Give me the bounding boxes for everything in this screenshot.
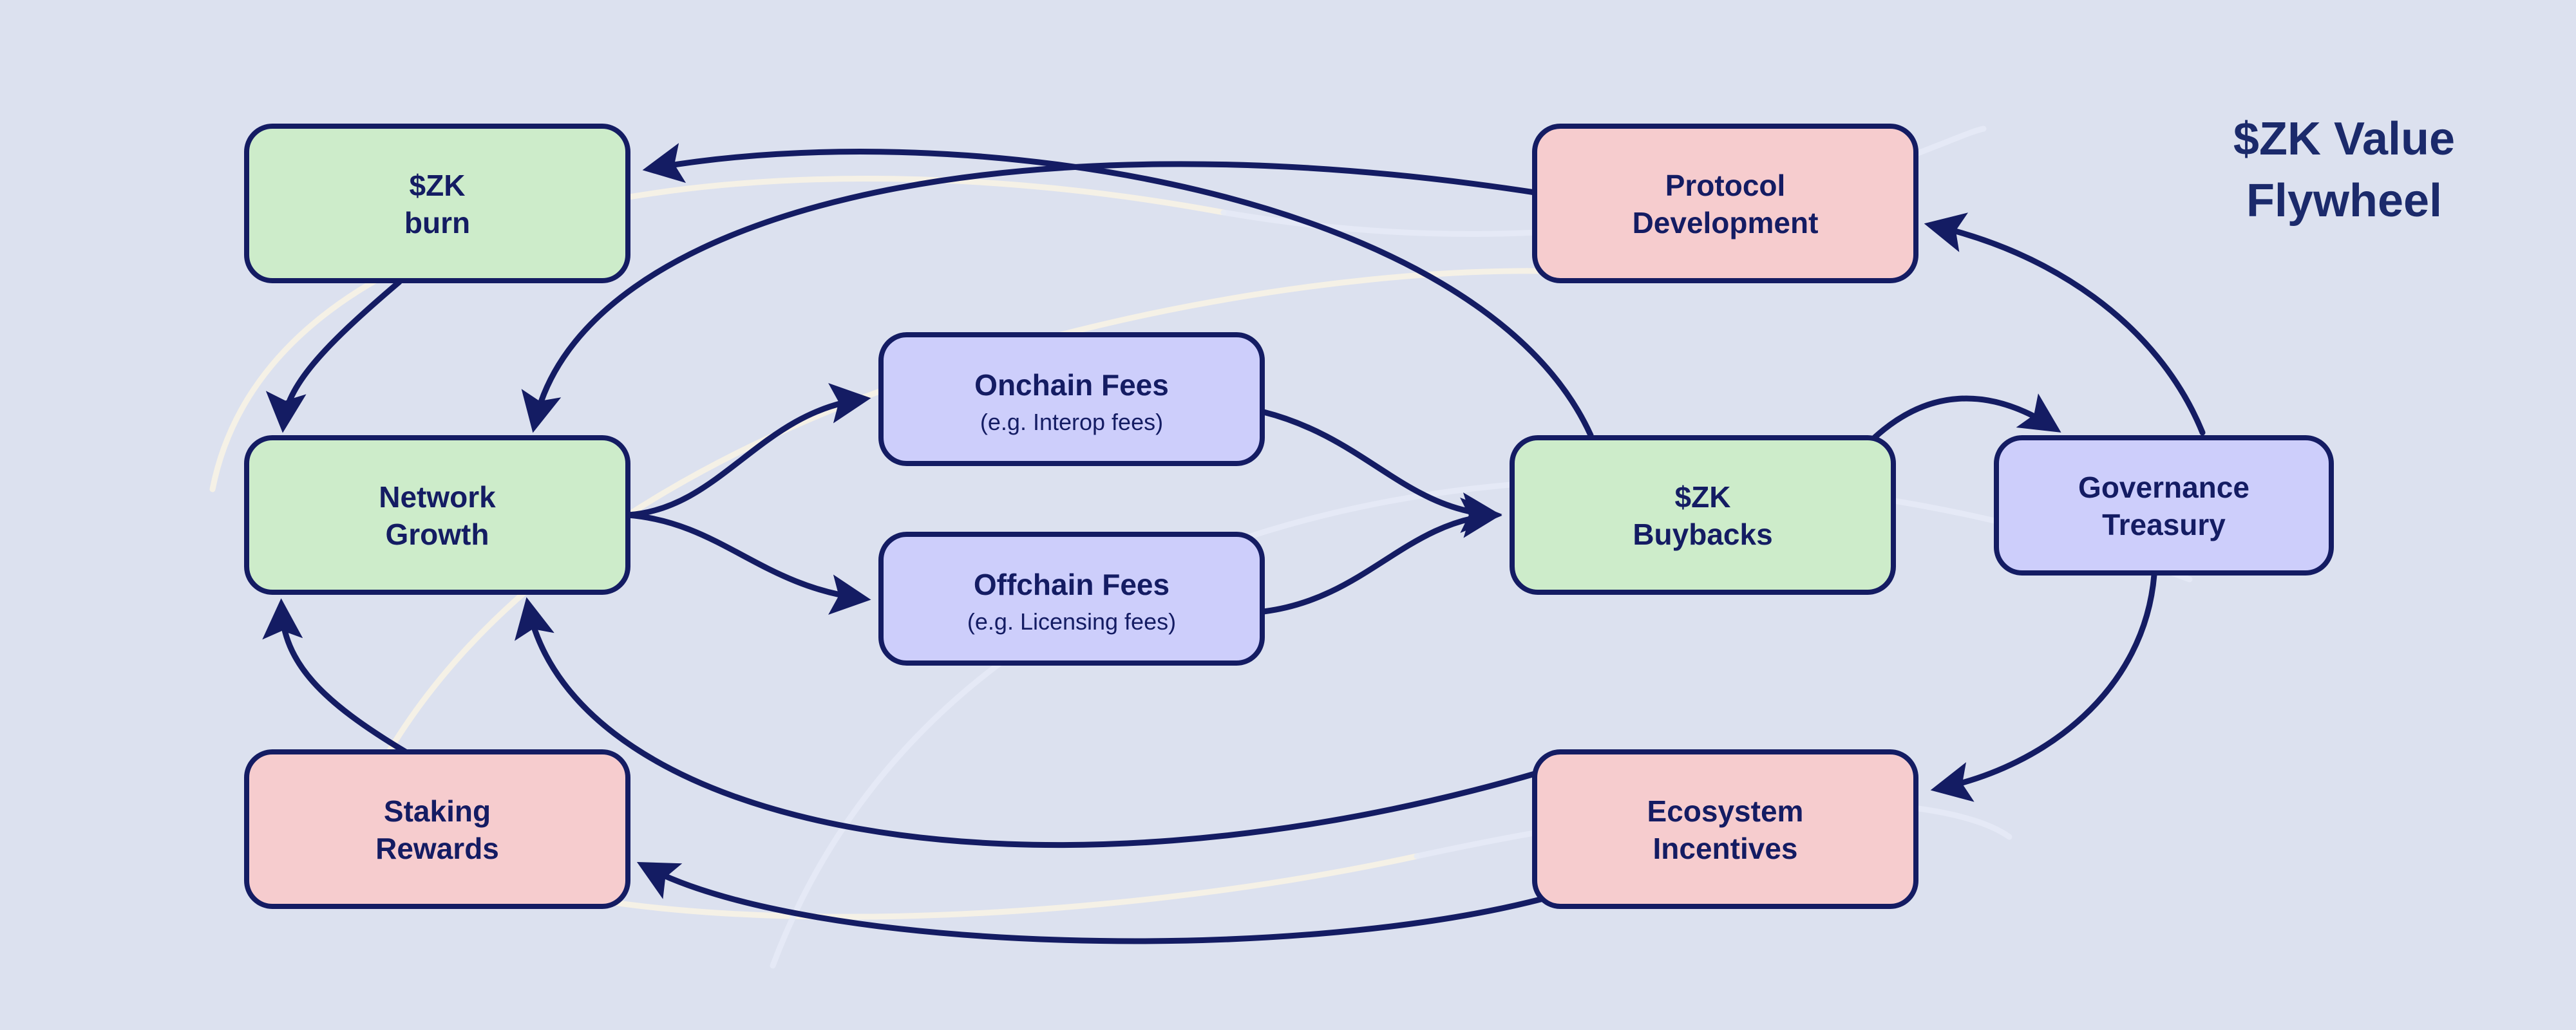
node-label-zk-buybacks: $ZK — [1675, 480, 1731, 514]
node-label-zk-burn: $ZK — [410, 169, 466, 202]
node-label-onchain-fees: Onchain Fees — [974, 368, 1169, 402]
node-zk-burn[interactable]: $ZKburn — [247, 126, 628, 281]
node-label2-governance-treasury: Treasury — [2102, 508, 2226, 541]
node-box-staking-rewards — [247, 752, 628, 906]
node-label-staking-rewards: Staking — [384, 794, 491, 828]
node-label-governance-treasury: Governance — [2078, 471, 2249, 504]
title-line-2: Flywheel — [2246, 175, 2442, 227]
node-box-network-growth — [247, 438, 628, 592]
node-label2-protocol-development: Development — [1633, 206, 1819, 239]
node-network-growth[interactable]: NetworkGrowth — [247, 438, 628, 592]
node-staking-rewards[interactable]: StakingRewards — [247, 752, 628, 906]
diagram-canvas: $ZKburnProtocolDevelopmentNetworkGrowthO… — [0, 0, 2576, 1030]
edge-offchain-fees-to-buybacks — [1264, 515, 1494, 612]
title-line-1: $ZK Value — [2233, 113, 2455, 165]
node-label2-ecosystem-incentives: Incentives — [1653, 832, 1798, 865]
node-label2-zk-burn: burn — [404, 206, 470, 239]
node-sublabel-onchain-fees: (e.g. Interop fees) — [980, 409, 1163, 435]
node-sublabel-offchain-fees: (e.g. Licensing fees) — [967, 608, 1176, 635]
edge-onchain-fees-to-buybacks — [1264, 412, 1494, 515]
node-label-network-growth: Network — [379, 480, 496, 514]
edge-network-growth-to-onchain-fees — [628, 399, 863, 515]
node-governance-treasury[interactable]: GovernanceTreasury — [1996, 438, 2331, 573]
node-label2-network-growth: Growth — [386, 518, 489, 551]
edge-governance-treasury-to-ecosystem — [1938, 575, 2154, 789]
node-onchain-fees[interactable]: Onchain Fees(e.g. Interop fees) — [881, 335, 1262, 464]
flywheel-diagram: $ZKburnProtocolDevelopmentNetworkGrowthO… — [0, 0, 2576, 1030]
node-layer: $ZKburnProtocolDevelopmentNetworkGrowthO… — [247, 126, 2331, 906]
node-box-governance-treasury — [1996, 438, 2331, 573]
page-title: $ZK Value Flywheel — [2233, 113, 2455, 227]
node-offchain-fees[interactable]: Offchain Fees(e.g. Licensing fees) — [881, 534, 1262, 663]
node-protocol-development[interactable]: ProtocolDevelopment — [1535, 126, 1916, 281]
edge-staking-rewards-to-network-growth — [281, 606, 406, 752]
node-box-zk-burn — [247, 126, 628, 281]
node-label-protocol-development: Protocol — [1665, 169, 1786, 202]
edge-network-growth-to-offchain-fees — [628, 515, 863, 599]
node-ecosystem-incentives[interactable]: EcosystemIncentives — [1535, 752, 1916, 906]
node-label2-zk-buybacks: Buybacks — [1633, 518, 1772, 551]
node-label-offchain-fees: Offchain Fees — [974, 568, 1170, 601]
node-label2-staking-rewards: Rewards — [375, 832, 499, 865]
node-label-ecosystem-incentives: Ecosystem — [1647, 794, 1804, 828]
node-box-zk-buybacks — [1512, 438, 1893, 592]
node-box-protocol-development — [1535, 126, 1916, 281]
node-zk-buybacks[interactable]: $ZKBuybacks — [1512, 438, 1893, 592]
node-box-ecosystem-incentives — [1535, 752, 1916, 906]
